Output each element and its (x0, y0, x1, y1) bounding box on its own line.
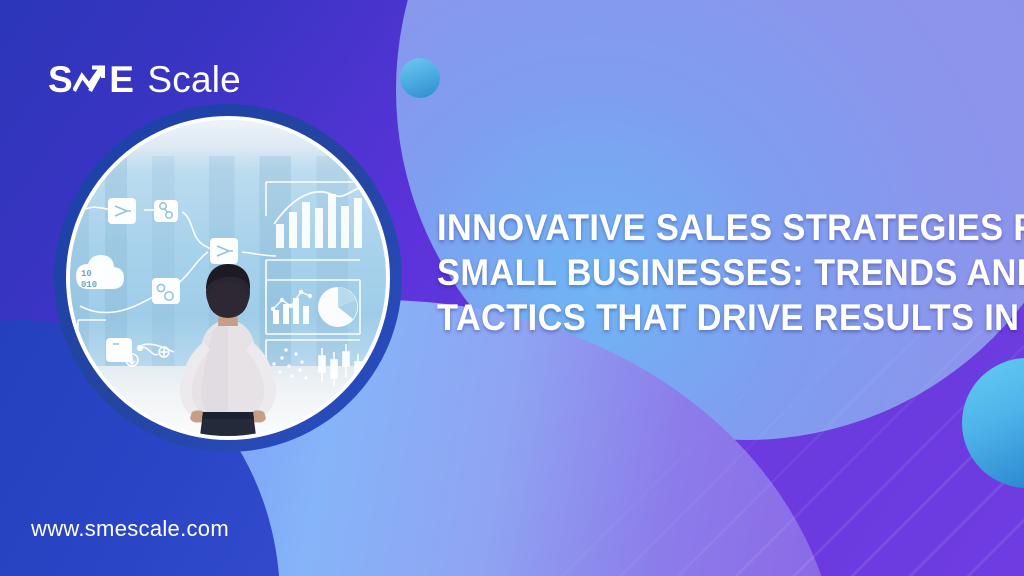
logo-letter-s: S (48, 61, 73, 98)
logo-scale-text: Scale (147, 61, 241, 98)
dashboard-overlay-graphics: 10 010 (70, 120, 386, 436)
upward-trend-arrow-icon (73, 64, 109, 94)
businessman-viewing-data-dashboard-photo: 10 010 (70, 120, 386, 436)
diagonal-stripe-pattern (540, 330, 1024, 576)
headline-line-2: SMALL BUSINESSES: TRENDS AND (437, 250, 958, 295)
businessman-figure (180, 264, 276, 436)
svg-text:010: 010 (81, 280, 97, 290)
small-teal-dot-circle (400, 58, 440, 98)
headline-line-3: TACTICS THAT DRIVE RESULTS IN 2025 (437, 295, 958, 340)
logo-sme-text: S E (48, 61, 134, 98)
headline-line-1: INNOVATIVE SALES STRATEGIES FOR (437, 205, 958, 250)
brand-logo[interactable]: S E Scale (48, 56, 241, 102)
svg-text:10: 10 (81, 269, 92, 279)
logo-letter-e: E (109, 61, 134, 98)
blog-banner: 10 010 (0, 0, 1024, 576)
website-url[interactable]: www.smescale.com (31, 516, 229, 542)
page-title: INNOVATIVE SALES STRATEGIES FOR SMALL BU… (437, 205, 997, 340)
